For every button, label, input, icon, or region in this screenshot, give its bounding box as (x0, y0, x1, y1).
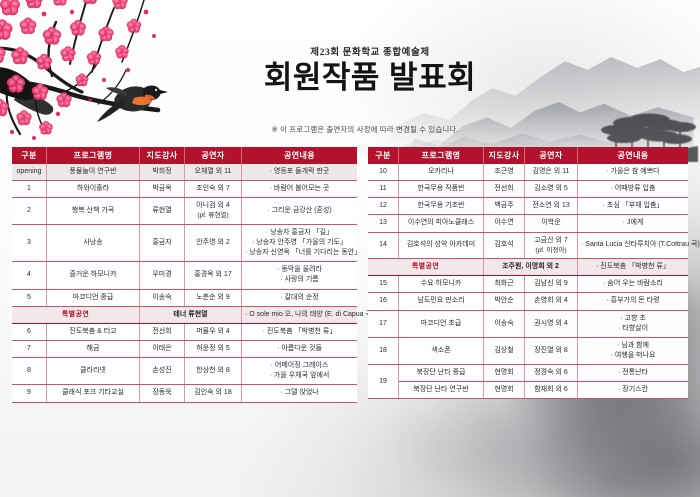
cell-performer-text: 조인숙 외 7 (196, 185, 230, 192)
cell-performer: 아니검 외 4(pf. 류현열) (185, 198, 242, 225)
content-line: Santa Lucia 산타루치아 (T.Cottrau 곡) (581, 240, 685, 250)
cell-teacher: 최화근 (484, 276, 525, 293)
cell-no-text: 12 (379, 202, 387, 209)
special-performance-row: 특별공연테너 류현열O sole mio 오, 나의 태양 (E. di Cap… (12, 306, 357, 323)
column-header-teacher: 지도강사 (140, 147, 185, 164)
cell-program: 행복 산책 가곡 (47, 198, 140, 225)
cell-no-text: 4 (27, 271, 31, 278)
cell-no-text: 15 (379, 280, 387, 287)
cell-performer-text: 안주영 외 2 (196, 239, 230, 246)
schedule-table-right-wrapper: 구분 프로그램명 지도강사 공연자 공연내용 10오카리나조근영김명은 외 11… (368, 147, 688, 403)
cell-no: 16 (368, 293, 399, 310)
cell-content: 갈대의 순정 (242, 289, 358, 306)
schedule-body-left: opening풍물놀이 연구반박희정오채열 외 11영등포 들개락 판굿1하와이… (12, 164, 357, 402)
cell-program-text: 김호석의 성악 아카데미 (407, 241, 475, 248)
cell-program: 진도북춤 & 터고 (47, 323, 140, 340)
cell-program: 색소폰 (399, 337, 484, 364)
table-row: 북장단 난타 연구반현명회함재회 외 6장기스칸 (368, 382, 688, 399)
cell-no: 1 (12, 181, 47, 198)
cell-teacher-text: 류현열 (152, 207, 171, 214)
content-line: O sole mio 오, 나의 태양 (E. di Capua 곡) (245, 310, 354, 320)
cell-teacher-text: 박희정 (152, 168, 171, 175)
cell-performer-text: 장진열 외 8 (534, 347, 568, 354)
cell-program-text: 하와이훌라 (77, 185, 109, 192)
cell-no-text: 11 (379, 185, 386, 192)
cell-no-text: 8 (27, 367, 31, 374)
cell-performer-text: 김명은 외 11 (533, 168, 570, 175)
cell-no: 14 (368, 232, 399, 259)
performer-name: 외 2 (547, 263, 559, 270)
cell-teacher: 백금주 (484, 198, 525, 215)
cell-teacher-text: 최화근 (494, 280, 513, 287)
cell-no-text: 1 (27, 185, 31, 192)
cell-content: 흥부가의 돈 타령 (578, 293, 689, 310)
cell-content: 낭송자 홍금자 「길」낭송자 안주영 「가을의 기도」낭송자 신영옥 「너를 기… (242, 224, 358, 261)
cell-teacher: 박금옥 (140, 181, 185, 198)
cell-teacher: 홍금자 (140, 224, 185, 261)
table-row: 7해금이태은허윤정 외 5아름다운 것들 (12, 340, 357, 357)
cell-program-text: 행복 산책 가곡 (72, 207, 115, 214)
cell-performer-text: 오채열 외 11 (195, 168, 232, 175)
program-change-note: ※ 이 프로그램은 출연자의 사정에 따라 변경될 수 있습니다. (0, 124, 700, 135)
cell-teacher: 전선희 (140, 323, 185, 340)
cell-no: 18 (368, 337, 399, 364)
content-line: 진도북춤 「박병천 류」 (245, 327, 354, 337)
cell-program-text: 사낭송 (83, 239, 102, 246)
cell-program-text: 수요 하모니카 (421, 280, 462, 287)
column-header-no: 구분 (368, 147, 399, 164)
table-row: 4즐거운 하모니카우미경홍경옥 외 17동막을 울려라사랑의 기름 (12, 262, 357, 289)
cell-no: 9 (12, 385, 47, 402)
cell-program-text: 마코디언 초급 (421, 320, 462, 327)
cell-program: 마코디언 중급 (47, 289, 140, 306)
cell-content: Santa Lucia 산타루치아 (T.Cottrau 곡) (578, 232, 689, 259)
cell-teacher: 박희정 (140, 164, 185, 181)
schedule-table-left: 구분 프로그램명 지도강사 공연자 공연내용 opening풍물놀이 연구반박희… (12, 147, 357, 403)
cell-program-text: 남도민요 판소리 (417, 297, 464, 304)
cell-program-text: 해금 (87, 345, 100, 352)
cell-performer-text: 손영회 외 4 (534, 297, 568, 304)
cell-performer: 안주영 외 2 (185, 224, 242, 261)
content-line: 장기스칸 (581, 385, 685, 395)
cell-program: 클래식 포크 기타교실 (47, 385, 140, 402)
cell-program-text: 색소폰 (431, 347, 450, 354)
cell-no: opening (12, 164, 47, 181)
cell-performer-text: 김소영 외 5 (534, 185, 568, 192)
cell-content: 장기스칸 (578, 382, 689, 399)
table-row: 16남도민요 판소리박안순손영회 외 4흥부가의 돈 타령 (368, 293, 688, 310)
cell-performer-text: 함재회 외 6 (534, 386, 568, 393)
cell-no: 11 (368, 181, 399, 198)
content-line: 낭송자 홍금자 「길」 (245, 228, 354, 238)
cell-teacher-text: 박금옥 (152, 185, 171, 192)
cell-content: 숨어 우는 바람소리 (578, 276, 689, 293)
content-line: 초심 「부채 입춤」 (581, 201, 685, 211)
cell-no-text: 10 (379, 168, 387, 175)
cell-program-text: 클래식 포크 기타교실 (62, 389, 124, 396)
cell-no-text: 16 (379, 297, 387, 304)
table-row: opening풍물놀이 연구반박희정오채열 외 11영등포 들개락 판굿 (12, 164, 357, 181)
cell-teacher: 현명회 (484, 365, 525, 382)
cell-no: 2 (12, 198, 47, 225)
cell-content: 그리운 금강산 (혼성) (242, 198, 358, 225)
cell-teacher: 류현열 (140, 198, 185, 225)
mountain-ridge-far-icon (380, 44, 700, 152)
content-line: J에게 (581, 218, 685, 228)
cell-performer-sub: (pf. 이정아) (528, 246, 574, 255)
cell-teacher: 현명회 (484, 382, 525, 399)
content-line: 낭송자 안주영 「가을의 기도」 (245, 238, 354, 248)
table-row: 19북장단 난타 중급현명회정경숙 외 6전통난타 (368, 365, 688, 382)
column-header-content: 공연내용 (242, 147, 358, 164)
content-line: 그리운 금강산 (혼성) (245, 206, 354, 216)
cell-no: 10 (368, 164, 399, 181)
performer-prefix: 조주원, 이명희 (502, 263, 546, 270)
cell-teacher: 김상철 (484, 337, 525, 364)
cell-performer: 오채열 외 11 (185, 164, 242, 181)
cell-program-text: 마코디언 중급 (73, 294, 114, 301)
content-line: 어메이징 그레이스 (245, 361, 354, 371)
content-line: 낭송자 신영옥 「너를 기다리는 동안」 (245, 248, 354, 258)
cell-content: 영등포 들개락 판굿 (242, 164, 358, 181)
table-row: 18색소폰김상철장진열 외 8님과 함께여행을 떠나요 (368, 337, 688, 364)
cell-performer-text: 고금산 외 7 (534, 237, 568, 244)
cell-content: 전통난타 (578, 365, 689, 382)
cell-content: 진도북춤 「박병천 류」 (578, 259, 689, 276)
schedule-body-right: 10오카리나조근영김명은 외 11가을은 참 예쁘다11한국무용 작품반전선희김… (368, 164, 688, 399)
content-line: 그댈 앉었나 (245, 388, 354, 398)
cell-no: 6 (12, 323, 47, 340)
cell-program: 풍물놀이 연구반 (47, 164, 140, 181)
ink-smoke-bottom (300, 395, 700, 497)
table-row: 10오카리나조근영김명은 외 11가을은 참 예쁘다 (368, 164, 688, 181)
cell-teacher: 박안순 (484, 293, 525, 310)
cell-no: 15 (368, 276, 399, 293)
cell-teacher-text: 이태은 (152, 345, 171, 352)
schedule-table-left-wrapper: 구분 프로그램명 지도강사 공연자 공연내용 opening풍물놀이 연구반박희… (12, 147, 357, 403)
cell-teacher-text: 박안순 (494, 297, 513, 304)
poster-header: 제23회 문화학교 종합예술제 회원작품 발표회 (0, 44, 700, 95)
cell-teacher: 전선희 (484, 181, 525, 198)
cell-no-text: 5 (27, 294, 31, 301)
column-header-program: 프로그램명 (47, 147, 140, 164)
cell-performer: 손영회 외 4 (525, 293, 578, 310)
cell-program-text: 즐거운 하모니카 (69, 271, 116, 278)
content-line: 고향 초 (581, 314, 685, 324)
cell-teacher-text: 손성진 (152, 367, 171, 374)
cell-teacher: 김호석 (484, 232, 525, 259)
cell-performer: 허윤정 외 5 (185, 340, 242, 357)
cell-teacher: 이송숙 (140, 289, 185, 306)
cell-performer: 한상천 외 8 (185, 358, 242, 385)
table-row: 6진도북춤 & 터고전선희머물우 외 4진도북춤 「박병천 류」 (12, 323, 357, 340)
content-line: 가을은 참 예쁘다 (581, 167, 685, 177)
cell-content: 고향 초타향살이 (578, 310, 689, 337)
table-row: 2행복 산책 가곡류현열아니검 외 4(pf. 류현열)그리운 금강산 (혼성) (12, 198, 357, 225)
cell-no-text: 19 (379, 378, 387, 385)
cell-teacher-text: 현명회 (494, 369, 513, 376)
cell-content: 그댈 앉었나 (242, 385, 358, 402)
table-row: 12한국무용 기초반백금주전소연 외 13초심 「부채 입춤」 (368, 198, 688, 215)
cell-performer: 노춘순 외 9 (185, 289, 242, 306)
cell-program: 한국무용 기초반 (399, 198, 484, 215)
cell-performer: 장진열 외 8 (525, 337, 578, 364)
content-line: 바람어 불어모는 곳 (245, 184, 354, 194)
cell-program: 남도민요 판소리 (399, 293, 484, 310)
cell-content: 가을은 참 예쁘다 (578, 164, 689, 181)
cell-performer: 전소연 외 13 (525, 198, 578, 215)
cell-performer-text: 홍경옥 외 17 (194, 271, 231, 278)
cell-program: 하와이훌라 (47, 181, 140, 198)
column-header-no: 구분 (12, 147, 47, 164)
cell-program: 김호석의 성악 아카데미 (399, 232, 484, 259)
cell-content: J에게 (578, 215, 689, 232)
cell-no: 12 (368, 198, 399, 215)
cell-no: 3 (12, 224, 47, 261)
special-performance-label: 특별공연 (12, 306, 140, 323)
table-header-row: 구분 프로그램명 지도강사 공연자 공연내용 (12, 147, 357, 164)
cell-teacher-text: 전선희 (494, 185, 513, 192)
cell-program-text: 진도북춤 & 터고 (69, 328, 116, 335)
cell-performer-text: 정경숙 외 6 (534, 369, 568, 376)
special-performance-row: 특별공연조주원, 이명희 외 2진도북춤 「박병천 류」 (368, 259, 688, 276)
cell-performer-text: 전소연 외 13 (532, 202, 569, 209)
content-line: 동막을 울려라 (245, 265, 354, 275)
cell-performer: 함재회 외 6 (525, 382, 578, 399)
cell-performer-text: 아니검 외 4 (196, 202, 230, 209)
cell-performer: 조인숙 외 7 (185, 181, 242, 198)
cell-program-text: 한국무용 작품반 (417, 185, 464, 192)
cell-program: 즐거운 하모니카 (47, 262, 140, 289)
cell-no: 5 (12, 289, 47, 306)
cell-performer: 김명은 외 11 (525, 164, 578, 181)
table-row: 5마코디언 중급이송숙노춘순 외 9갈대의 순정 (12, 289, 357, 306)
cell-no: 7 (12, 340, 47, 357)
cell-teacher-text: 조근영 (494, 168, 513, 175)
cell-content: 아름다운 것들 (242, 340, 358, 357)
cell-performer: 김인숙 외 18 (185, 385, 242, 402)
content-line: 타향살이 (581, 324, 685, 334)
cell-content: 님과 함께여행을 떠나요 (578, 337, 689, 364)
cell-teacher: 이수연 (484, 215, 525, 232)
cell-teacher-text: 김상철 (494, 347, 513, 354)
cell-performer-text: 권시영 외 4 (534, 320, 568, 327)
content-line: 진도북춤 「박병천 류」 (581, 262, 685, 272)
cell-no: 4 (12, 262, 47, 289)
cell-teacher-text: 우미경 (152, 271, 171, 278)
cell-teacher-text: 홍금자 (152, 239, 171, 246)
cell-teacher-text: 이송숙 (494, 320, 513, 327)
content-line: 어때방류 입춤 (581, 184, 685, 194)
cell-no: 8 (12, 358, 47, 385)
content-line: 아름다운 것들 (245, 344, 354, 354)
cell-content: 진도북춤 「박병천 류」 (242, 323, 358, 340)
content-line: 영등포 들개락 판굿 (245, 167, 354, 177)
cell-no: 17 (368, 310, 399, 337)
cell-content: 동막을 울려라사랑의 기름 (242, 262, 358, 289)
cell-program-text: 오카리나 (428, 168, 454, 175)
cell-teacher: 조근영 (484, 164, 525, 181)
cell-teacher-text: 이수연 (494, 219, 513, 226)
cell-teacher: 우미경 (140, 262, 185, 289)
cell-content: 초심 「부채 입춤」 (578, 198, 689, 215)
table-row: 15수요 하모니카최화근김남신 외 9숨어 우는 바람소리 (368, 276, 688, 293)
cell-teacher-text: 백금주 (494, 202, 513, 209)
table-header-row: 구분 프로그램명 지도강사 공연자 공연내용 (368, 147, 688, 164)
cell-program-text: 풍물놀이 연구반 (69, 168, 116, 175)
cell-program: 마코디언 초급 (399, 310, 484, 337)
column-header-performer: 공연자 (525, 147, 578, 164)
cell-no-text: 7 (27, 345, 31, 352)
content-line: 님과 함께 (581, 341, 685, 351)
special-performance-performer: 조주원, 이명희 외 2 (484, 259, 578, 276)
bird-icon (97, 86, 168, 122)
special-performance-label: 특별공연 (368, 259, 484, 276)
table-row: 14김호석의 성악 아카데미김호석고금산 외 7(pf. 이정아)Santa L… (368, 232, 688, 259)
poster-subtitle: 제23회 문화학교 종합예술제 (40, 44, 700, 58)
cell-content: 바람어 불어모는 곳 (242, 181, 358, 198)
cell-no-text: opening (17, 168, 42, 175)
cell-program: 한국무용 작품반 (399, 181, 484, 198)
cell-performer: 김소영 외 5 (525, 181, 578, 198)
cell-performer-text: 김인숙 외 18 (194, 389, 231, 396)
content-line: 흥부가의 돈 타령 (581, 296, 685, 306)
cell-performer: 고금산 외 7(pf. 이정아) (525, 232, 578, 259)
cell-teacher-text: 이송숙 (152, 294, 171, 301)
cell-program: 북장단 난타 연구반 (399, 382, 484, 399)
cell-program: 북장단 난타 중급 (399, 365, 484, 382)
cell-teacher: 이태은 (140, 340, 185, 357)
column-header-performer: 공연자 (185, 147, 242, 164)
content-line: 사랑의 기름 (245, 275, 354, 285)
cell-performer-text: 머물우 외 4 (196, 328, 230, 335)
cell-program: 수요 하모니카 (399, 276, 484, 293)
column-header-content: 공연내용 (578, 147, 689, 164)
cell-program: 오카리나 (399, 164, 484, 181)
cell-performer-text: 허윤정 외 5 (196, 345, 230, 352)
cell-teacher-text: 김호석 (494, 241, 513, 248)
content-line: 여행을 떠나요 (581, 351, 685, 361)
column-header-program: 프로그램명 (399, 147, 484, 164)
cell-performer: 김남신 외 9 (525, 276, 578, 293)
cell-no: 13 (368, 215, 399, 232)
performer-name: 류현열 (188, 311, 207, 318)
cell-no-text: 14 (379, 241, 387, 248)
cell-performer: 홍경옥 외 17 (185, 262, 242, 289)
cell-performer-text: 한상천 외 8 (196, 367, 230, 374)
cell-teacher: 이송숙 (484, 310, 525, 337)
cell-content: 어메이징 그레이스가을 우체국 앞에서 (242, 358, 358, 385)
cell-program-text: 북장단 난타 중급 (417, 369, 466, 376)
cell-content: 어때방류 입춤 (578, 181, 689, 198)
cell-performer: 머물우 외 4 (185, 323, 242, 340)
cell-teacher-text: 전선희 (152, 328, 171, 335)
poster-canvas: 제23회 문화학교 종합예술제 회원작품 발표회 ※ 이 프로그램은 출연자의 … (0, 0, 700, 497)
cell-performer-sub: (pf. 류현열) (188, 211, 238, 220)
table-row: 1하와이훌라박금옥조인숙 외 7바람어 불어모는 곳 (12, 181, 357, 198)
content-line: 갈대의 순정 (245, 293, 354, 303)
page-title: 회원작품 발표회 (40, 61, 700, 95)
cell-performer-text: 이학운 (541, 219, 560, 226)
cell-program: 이수연의 피아노클래스 (399, 215, 484, 232)
cell-no-text: 17 (379, 320, 387, 327)
content-line: 숨어 우는 바람소리 (581, 279, 685, 289)
cell-program-text: 한국무용 기초반 (417, 202, 464, 209)
column-header-teacher: 지도강사 (484, 147, 525, 164)
table-row: 11한국무용 작품반전선희김소영 외 5어때방류 입춤 (368, 181, 688, 198)
performer-prefix: 테너 (173, 311, 188, 318)
cell-performer-text: 김남신 외 9 (534, 280, 568, 287)
cell-performer: 권시영 외 4 (525, 310, 578, 337)
cell-teacher-text: 장동욱 (152, 389, 171, 396)
cell-no: 19 (368, 365, 399, 399)
cell-no-text: 9 (27, 389, 31, 396)
cell-teacher: 장동욱 (140, 385, 185, 402)
table-row: 13이수연의 피아노클래스이수연이학운J에게 (368, 215, 688, 232)
cell-program-text: 북장단 난타 연구반 (413, 386, 468, 393)
cell-teacher-text: 현명회 (494, 386, 513, 393)
cell-program: 해금 (47, 340, 140, 357)
schedule-tables: 구분 프로그램명 지도강사 공연자 공연내용 opening풍물놀이 연구반박희… (0, 147, 700, 403)
cell-program-text: 이수연의 피아노클래스 (408, 219, 474, 226)
table-row: 17마코디언 초급이송숙권시영 외 4고향 초타향살이 (368, 310, 688, 337)
cell-teacher: 손성진 (140, 358, 185, 385)
table-row: 9클래식 포크 기타교실장동욱김인숙 외 18그댈 앉었나 (12, 385, 357, 402)
cell-performer-text: 노춘순 외 9 (196, 294, 230, 301)
cell-no-text: 3 (27, 239, 31, 246)
cell-program: 사낭송 (47, 224, 140, 261)
cell-performer: 정경숙 외 6 (525, 365, 578, 382)
cell-program-text: 클라리넷 (80, 367, 106, 374)
cell-performer: 이학운 (525, 215, 578, 232)
table-row: 3사낭송홍금자안주영 외 2낭송자 홍금자 「길」낭송자 안주영 「가을의 기도… (12, 224, 357, 261)
cell-content: O sole mio 오, 나의 태양 (E. di Capua 곡) (242, 306, 358, 323)
table-row: 8클라리넷손성진한상천 외 8어메이징 그레이스가을 우체국 앞에서 (12, 358, 357, 385)
schedule-table-right: 구분 프로그램명 지도강사 공연자 공연내용 10오카리나조근영김명은 외 11… (368, 147, 688, 399)
special-performance-performer: 테너 류현열 (140, 306, 242, 323)
cell-no-text: 6 (27, 328, 31, 335)
cell-no-text: 13 (379, 219, 387, 226)
cell-program: 클라리넷 (47, 358, 140, 385)
cell-no-text: 18 (379, 347, 387, 354)
content-line: 가을 우체국 앞에서 (245, 371, 354, 381)
content-line: 전통난타 (581, 368, 685, 378)
cell-no-text: 2 (27, 207, 31, 214)
